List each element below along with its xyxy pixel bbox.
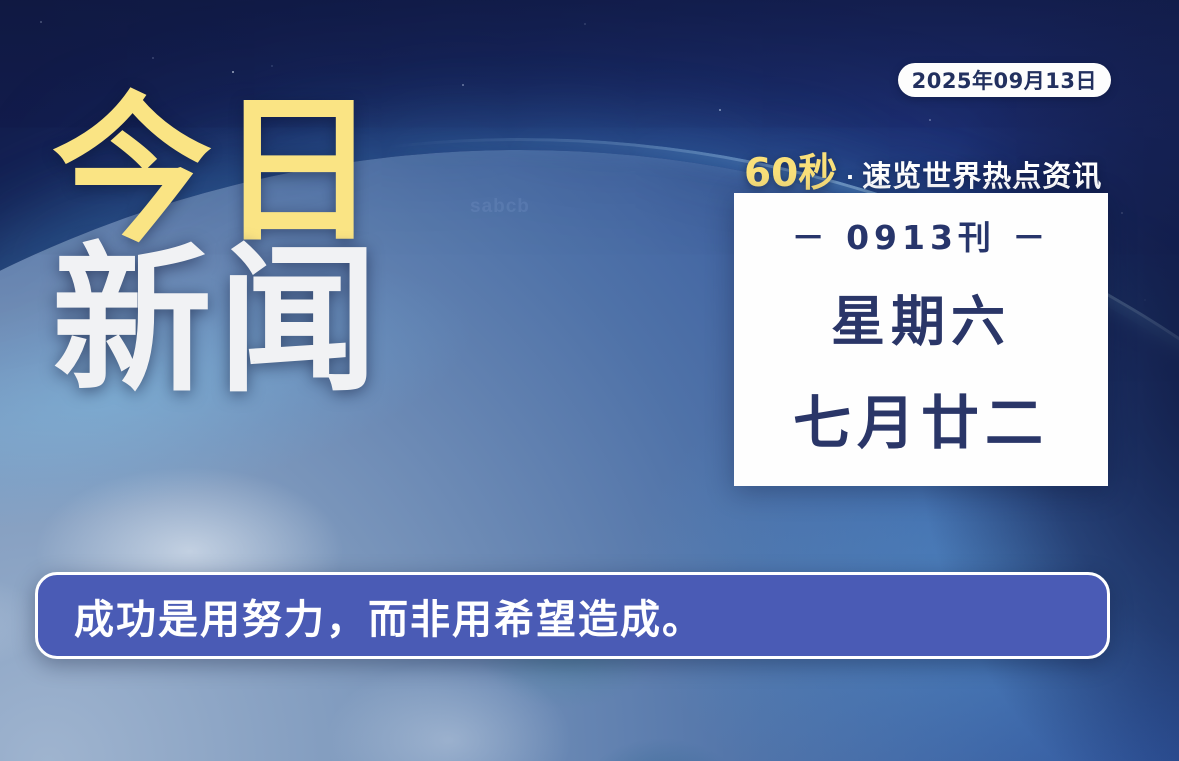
- quote-banner: 成功是用努力，而非用希望造成。: [35, 572, 1110, 659]
- quote-text: 成功是用努力，而非用希望造成。: [74, 587, 704, 645]
- masthead-line-news: 新闻: [52, 242, 472, 400]
- date-card: － 0913刊 － 星期六 七月廿二: [734, 193, 1108, 486]
- tagline-seconds: 60秒: [744, 142, 837, 198]
- weekday-label: 星期六: [831, 277, 1011, 356]
- tagline-description: 速览世界热点资讯: [862, 153, 1102, 195]
- date-badge: 2025年09月13日: [898, 63, 1111, 97]
- lunar-date-label: 七月廿二: [793, 376, 1049, 460]
- masthead: 今日 新闻: [52, 92, 472, 401]
- tagline: 60秒 · 速览世界热点资讯: [744, 142, 1102, 198]
- news-poster: sabcb 今日 新闻 2025年09月13日 60秒 · 速览世界热点资讯 －…: [0, 0, 1179, 761]
- content-layer: 今日 新闻 2025年09月13日 60秒 · 速览世界热点资讯 － 0913刊…: [0, 0, 1179, 761]
- date-badge-label: 2025年09月13日: [912, 65, 1097, 95]
- issue-number: － 0913刊 －: [792, 211, 1051, 259]
- tagline-separator: ·: [846, 162, 855, 193]
